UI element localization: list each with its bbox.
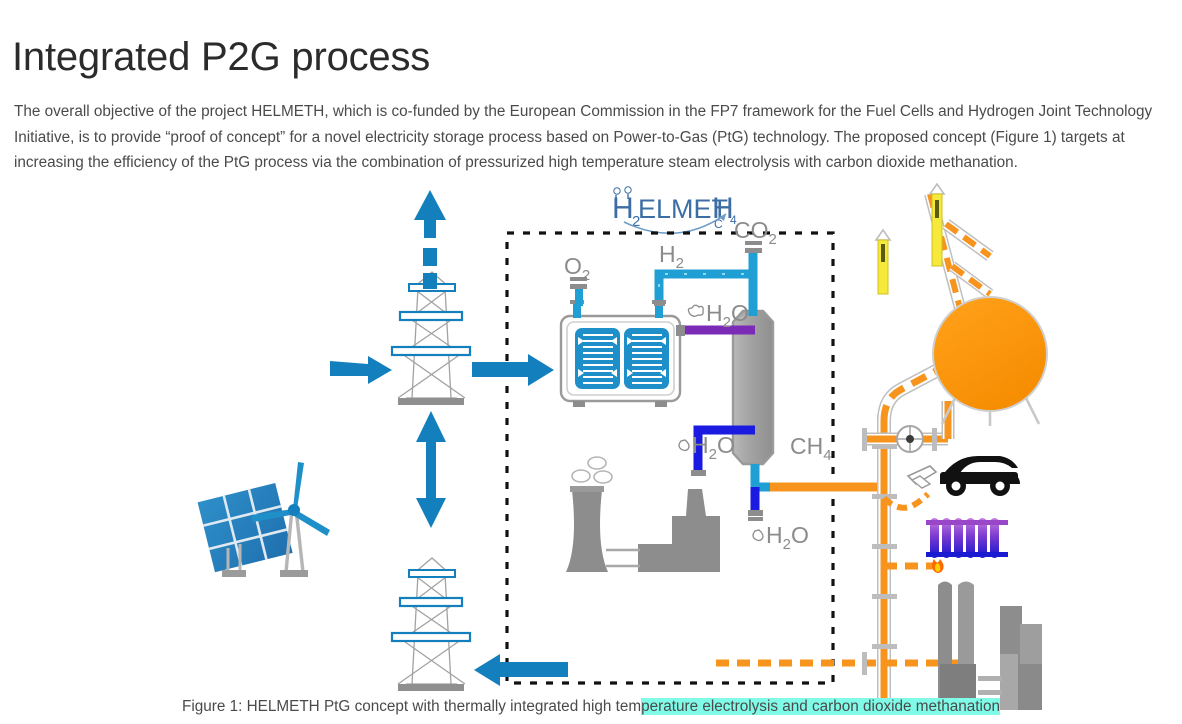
caption-text-plain: Figure 1: HELMETH PtG concept with therm… [182,698,641,715]
steam-cloud-icon [572,457,612,483]
flare-stack-right [930,184,944,266]
industrial-plant [932,582,1042,713]
caption-text-highlighted: perature electrolysis and carbon dioxide… [641,698,1000,715]
intro-paragraph: The overall objective of the project HEL… [14,99,1174,176]
arrow-renewables-to-grid [330,356,392,384]
flare-stack-left [876,230,890,294]
figure-diagram: H 2 ELMET H C 4 [0,176,1182,724]
arrow-up-dashed-export [414,190,446,289]
electrolyzer-stack [561,300,680,407]
label-h2: H2 [659,241,684,272]
lower-transmission-tower [392,558,470,691]
flame-icon [932,559,944,573]
upper-transmission-tower [392,272,470,405]
label-ch4: CH4 [790,433,832,464]
gas-grid-valve [897,426,923,452]
solar-panel [198,483,293,577]
label-liquid-h2o-feed: H2O [679,432,735,463]
helmeth-scope-box [507,233,833,683]
arrow-bidirectional-grid [416,411,446,528]
radiator-heating [926,518,1008,573]
arrow-grid-to-electrolyzer [472,354,554,386]
pipe-product-gas [748,464,878,521]
pipe-steam-purple [676,325,755,336]
figure-caption: Figure 1: HELMETH PtG concept with therm… [0,696,1182,718]
car-with-fuel-nozzle [884,456,1020,508]
helmeth-logo: H 2 ELMET H C 4 [612,187,737,233]
gas-storage-sphere [933,297,1047,426]
page-root: Integrated P2G process The overall objec… [0,0,1182,724]
page-title: Integrated P2G process [12,33,430,81]
svg-text:H: H [612,192,634,225]
label-liquid-h2o-condensate: H2O [753,522,809,553]
svg-text:H2O: H2O [766,522,809,553]
arrow-powerplant-to-grid [474,654,568,686]
